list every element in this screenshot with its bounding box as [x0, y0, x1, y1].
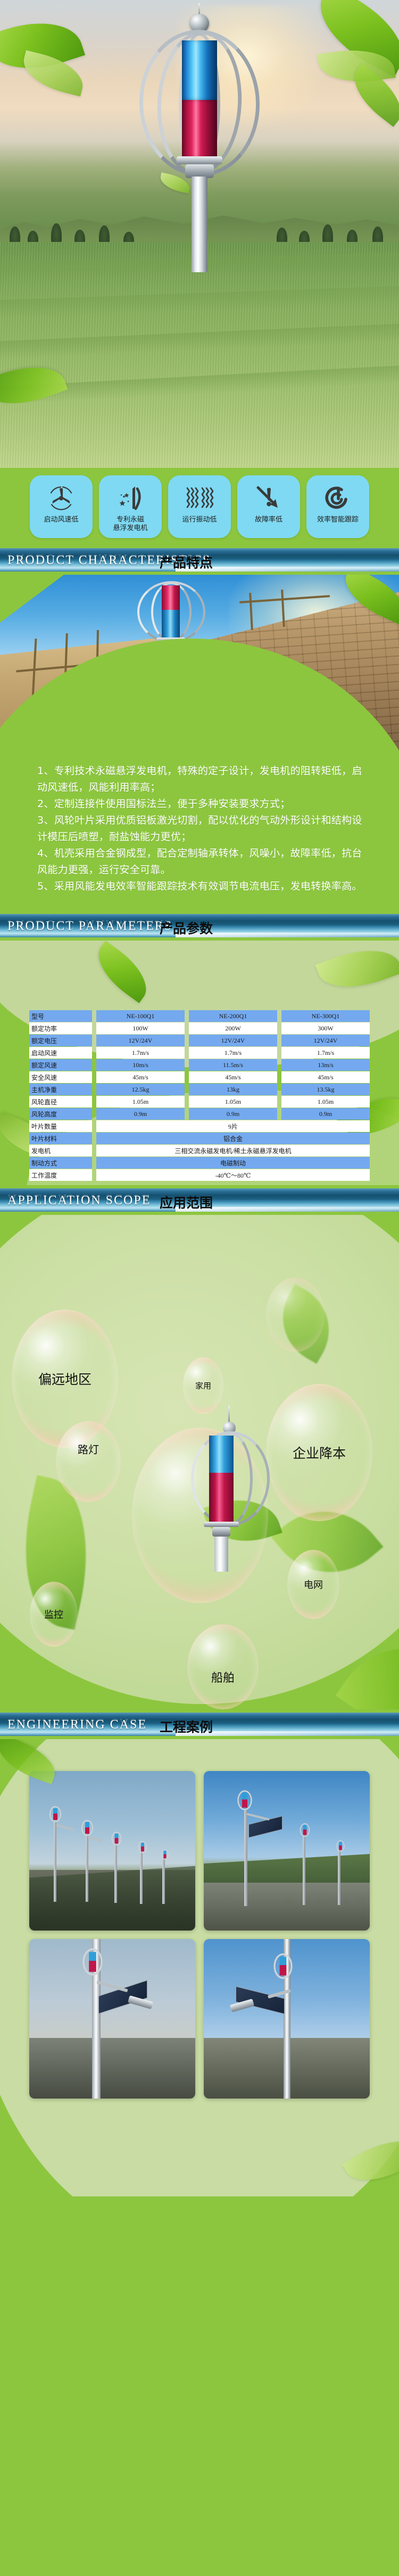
feature-card-label: 运行振动低: [182, 516, 217, 524]
param-label-cell: 制动方式: [29, 1157, 92, 1169]
feature-card-startup-wind-speed[interactable]: 启动风速低: [30, 475, 93, 538]
engineering-case-photo[interactable]: [29, 1771, 195, 1931]
maglev-generator-icon: [114, 483, 146, 514]
feature-card-low-vibration[interactable]: 运行振动低: [168, 475, 231, 538]
grass-field: [0, 242, 399, 468]
section-header-engineering-case: ENGINEERING CASE ENGINEERING CASE 工程案例: [0, 1709, 399, 1739]
param-value-cell: 12.5kg: [96, 1084, 185, 1095]
application-scope-section: 偏远地区 家用 企业降本 路灯 电网 监控 船舶: [0, 1215, 399, 1709]
turbine-rotor-red: [182, 100, 217, 157]
param-gap-cell: [92, 1145, 96, 1156]
turbine-mast: [214, 1537, 228, 1572]
feature-card-label: 效率智能跟踪: [317, 516, 359, 524]
param-value-cell: 1.7m/s: [189, 1047, 277, 1059]
section-header-product-parameters: PRODUCT PARAMETERS PRODUCT PARAMETERS 产品…: [0, 911, 399, 941]
param-label-cell: 叶片数量: [29, 1120, 92, 1132]
param-value-cell: 12V/24V: [189, 1035, 277, 1046]
param-gap-cell: [185, 1022, 189, 1034]
feature-line: 1、专利技术永磁悬浮发电机，特殊的定子设计，发电机的阻转矩低，启动风速低，风能利…: [37, 763, 367, 796]
engineering-case-photo[interactable]: [29, 1939, 195, 2099]
param-gap-cell: [277, 1059, 281, 1071]
param-gap-cell: [185, 1035, 189, 1046]
param-gap-cell: [185, 1108, 189, 1120]
feature-line: 4、机壳采用合金钢成型，配合定制轴承转体，风噪小，故障率低，抗台风能力更强，运行…: [37, 845, 367, 878]
engineering-case-photo[interactable]: [204, 1771, 370, 1931]
param-gap-cell: [277, 1071, 281, 1083]
table-row: 工作温度-40℃～80℃: [29, 1169, 370, 1181]
turbine-mast: [192, 177, 207, 272]
param-value-cell: 0.9m: [189, 1108, 277, 1120]
param-gap-cell: [185, 1010, 189, 1022]
turbine-rotor-blue: [209, 1436, 234, 1473]
param-label-cell: 主机净重: [29, 1084, 92, 1095]
param-label-cell: 型号: [29, 1010, 92, 1022]
feature-card-label: 故障率低: [255, 516, 282, 524]
section-header-application-scope: APPLICATION SCOPE APPLICATION SCOPE 应用范围: [0, 1185, 399, 1215]
param-value-cell: 0.9m: [96, 1108, 185, 1120]
section-header-cn-title: 工程案例: [160, 1717, 213, 1736]
param-gap-cell: [277, 1010, 281, 1022]
vibration-waves-icon: [184, 483, 215, 514]
param-gap-cell: [277, 1108, 281, 1120]
product-parameters-table: 型号NE-100Q1NE-200Q1NE-300Q1额定功率100W200W30…: [29, 1010, 370, 1181]
section-header-en-title: ENGINEERING CASE: [7, 1718, 147, 1732]
param-value-cell: 三相交流永磁发电机/稀土永磁悬浮发电机: [96, 1145, 370, 1156]
application-bubble[interactable]: 企业降本: [266, 1384, 372, 1521]
param-value-cell: 铝合金: [96, 1132, 370, 1144]
section-header-en-title: PRODUCT PARAMETERS: [7, 919, 172, 934]
param-value-cell: 1.05m: [96, 1096, 185, 1107]
product-feature-icon-strip: 启动风速低 专利永磁悬浮发电机: [0, 468, 399, 545]
param-value-cell: 45m/s: [281, 1071, 370, 1083]
turbine-hub-body: [212, 1527, 230, 1537]
table-row: 主机净重12.5kg13kg13.5kg: [29, 1084, 370, 1095]
param-value-cell: 0.9m: [281, 1108, 370, 1120]
param-value-cell: 13.5kg: [281, 1084, 370, 1095]
turbine-hub-plate: [204, 1522, 239, 1527]
product-parameters-section: 型号NE-100Q1NE-200Q1NE-300Q1额定功率100W200W30…: [0, 941, 399, 1185]
table-row: 额定电压12V/24V12V/24V12V/24V: [29, 1035, 370, 1046]
application-bubble-label: 偏远地区: [38, 1369, 92, 1388]
wind-turbine-icon: [45, 483, 77, 514]
section-header-product-characteristics: PRODUCT CHARACTERISTICS PRODUCT CHARACTE…: [0, 545, 399, 575]
engineering-case-gallery: [29, 1771, 370, 2099]
application-bubble[interactable]: 电网: [287, 1550, 339, 1619]
param-value-cell: 100W: [96, 1022, 185, 1034]
param-gap-cell: [92, 1084, 96, 1095]
param-value-cell: 13m/s: [281, 1059, 370, 1071]
table-row: 风轮直径1.05m1.05m1.05m: [29, 1096, 370, 1107]
application-bubble-label: 监控: [44, 1607, 63, 1621]
param-value-cell: NE-200Q1: [189, 1010, 277, 1022]
application-bubble[interactable]: 船舶: [187, 1624, 259, 1709]
application-bubble-label: 企业降本: [293, 1443, 346, 1462]
table-row: 叶片材料铝合金: [29, 1132, 370, 1144]
param-gap-cell: [185, 1059, 189, 1071]
application-bubble[interactable]: 监控: [30, 1582, 78, 1647]
down-arrow-alert-icon: [253, 483, 285, 514]
param-gap-cell: [277, 1084, 281, 1095]
param-gap-cell: [92, 1047, 96, 1059]
table-row: 发电机三相交流永磁发电机/稀土永磁悬浮发电机: [29, 1145, 370, 1156]
section-header-cn-title: 产品特点: [160, 552, 213, 572]
turbine-rotor-red: [162, 585, 180, 610]
param-gap-cell: [92, 1010, 96, 1022]
param-gap-cell: [92, 1108, 96, 1120]
table-row: 启动风速1.7m/s1.7m/s1.7m/s: [29, 1047, 370, 1059]
param-value-cell: 电磁制动: [96, 1157, 370, 1169]
param-label-cell: 叶片材料: [29, 1132, 92, 1144]
param-value-cell: 1.7m/s: [281, 1047, 370, 1059]
param-gap-cell: [185, 1084, 189, 1095]
param-value-cell: 200W: [189, 1022, 277, 1034]
param-gap-cell: [277, 1096, 281, 1107]
param-gap-cell: [277, 1022, 281, 1034]
param-label-cell: 额定风速: [29, 1059, 92, 1071]
application-bubble[interactable]: 家用: [183, 1357, 223, 1414]
param-gap-cell: [185, 1071, 189, 1083]
param-label-cell: 额定功率: [29, 1022, 92, 1034]
table-row: 型号NE-100Q1NE-200Q1NE-300Q1: [29, 1010, 370, 1022]
table-row: 风轮高度0.9m0.9m0.9m: [29, 1108, 370, 1120]
param-gap-cell: [92, 1132, 96, 1144]
feature-line: 2、定制连接件使用国标法兰，便于多种安装要求方式；: [37, 796, 367, 812]
param-label-cell: 安全风速: [29, 1071, 92, 1083]
param-value-cell: 13kg: [189, 1084, 277, 1095]
param-gap-cell: [92, 1035, 96, 1046]
application-bubble-label: 电网: [304, 1578, 323, 1591]
param-value-cell: NE-300Q1: [281, 1010, 370, 1022]
param-gap-cell: [92, 1120, 96, 1132]
param-gap-cell: [277, 1047, 281, 1059]
feature-line: 5、采用风能发电效率智能跟踪技术有效调节电流电压，发电转换率高。: [37, 878, 367, 895]
param-value-cell: 10m/s: [96, 1059, 185, 1071]
param-gap-cell: [92, 1059, 96, 1071]
table-row: 安全风速45m/s45m/s45m/s: [29, 1071, 370, 1083]
param-gap-cell: [92, 1096, 96, 1107]
feature-card-low-failure-rate[interactable]: 故障率低: [237, 475, 300, 538]
section-header-cn-title: 产品参数: [160, 918, 213, 937]
param-gap-cell: [92, 1071, 96, 1083]
turbine-rotor-blue: [182, 40, 217, 100]
param-value-cell: 9片: [96, 1120, 370, 1132]
param-value-cell: NE-100Q1: [96, 1010, 185, 1022]
table-row: 额定风速10m/s11.5m/s13m/s: [29, 1059, 370, 1071]
param-value-cell: 45m/s: [189, 1071, 277, 1083]
param-gap-cell: [92, 1169, 96, 1181]
feature-card-label: 启动风速低: [44, 516, 78, 524]
param-value-cell: 45m/s: [96, 1071, 185, 1083]
wind-turbine-illustration: [184, 1420, 279, 1574]
param-gap-cell: [92, 1157, 96, 1169]
param-value-cell: 11.5m/s: [189, 1059, 277, 1071]
feature-card-label: 专利永磁悬浮发电机: [113, 516, 147, 533]
param-gap-cell: [185, 1096, 189, 1107]
wind-turbine-illustration: [128, 11, 271, 266]
param-value-cell: 12V/24V: [281, 1035, 370, 1046]
param-value-cell: -40℃～80℃: [96, 1169, 370, 1181]
feature-card-efficiency-tracking[interactable]: 效率智能跟踪: [306, 475, 369, 538]
param-label-cell: 工作温度: [29, 1169, 92, 1181]
param-label-cell: 风轮高度: [29, 1108, 92, 1120]
section-header-cn-title: 应用范围: [160, 1193, 213, 1212]
param-gap-cell: [185, 1047, 189, 1059]
param-label-cell: 发电机: [29, 1145, 92, 1156]
turbine-rotor-red: [209, 1473, 234, 1522]
application-bubble-label: 路灯: [78, 1441, 99, 1456]
param-gap-cell: [277, 1035, 281, 1046]
power-tracking-icon: [322, 483, 354, 514]
param-label-cell: 风轮直径: [29, 1096, 92, 1107]
param-label-cell: 额定电压: [29, 1035, 92, 1046]
param-value-cell: 1.7m/s: [96, 1047, 185, 1059]
feature-card-maglev-generator[interactable]: 专利永磁悬浮发电机: [99, 475, 162, 538]
application-bubble-label: 船舶: [211, 1668, 235, 1685]
param-label-cell: 启动风速: [29, 1047, 92, 1059]
section-header-en-title: APPLICATION SCOPE: [7, 1194, 151, 1208]
hero-banner-secondary: [0, 575, 399, 750]
table-row: 额定功率100W200W300W: [29, 1022, 370, 1034]
turbine-rotor-blue: [162, 610, 180, 637]
hero-banner-primary: [0, 0, 399, 468]
engineering-case-section: [0, 1739, 399, 2196]
table-row: 叶片数量9片: [29, 1120, 370, 1132]
application-bubble-decorative: [266, 1278, 325, 1352]
param-value-cell: 12V/24V: [96, 1035, 185, 1046]
turbine-hub-plate: [177, 156, 222, 164]
param-value-cell: 1.05m: [281, 1096, 370, 1107]
engineering-case-photo[interactable]: [204, 1939, 370, 2099]
application-bubble-label: 家用: [195, 1380, 211, 1391]
param-value-cell: 1.05m: [189, 1096, 277, 1107]
application-bubble[interactable]: 路灯: [56, 1421, 121, 1502]
table-row: 制动方式电磁制动: [29, 1157, 370, 1169]
turbine-spike: [228, 1406, 230, 1424]
param-value-cell: 300W: [281, 1022, 370, 1034]
product-feature-text-block: 1、专利技术永磁悬浮发电机，特殊的定子设计，发电机的阻转矩低，启动风速低，风能利…: [0, 750, 399, 911]
feature-line: 3、风轮叶片采用优质铝板激光切割，配以优化的气动外形设计和结构设计模压后喷塑，耐…: [37, 812, 367, 845]
param-gap-cell: [92, 1022, 96, 1034]
